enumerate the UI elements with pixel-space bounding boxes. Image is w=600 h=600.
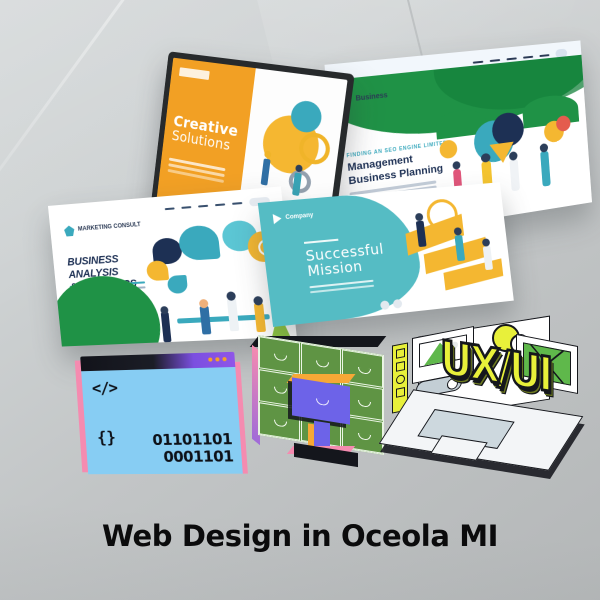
cabinet-drawer[interactable]	[259, 336, 300, 374]
code-tag-icon: </>	[91, 378, 117, 397]
flyer-left-logo-icon	[64, 225, 75, 236]
binary-code-text: 011011010001101	[152, 431, 234, 466]
imac-brand-logo-icon	[179, 67, 210, 80]
imac-headline: Creative Solutions	[171, 114, 239, 155]
code-browser-window: </> {} 011011010001101	[80, 352, 243, 474]
flyer-teal-logo-text: Company	[285, 213, 314, 222]
flyer-left-logo-text: MARKETING CONSULT	[78, 222, 141, 233]
browser-traffic-lights[interactable]	[208, 357, 227, 362]
filing-cabinet	[252, 336, 392, 476]
flyer-left-nav	[164, 197, 270, 213]
imac-subtext-lines	[169, 158, 226, 172]
browser-viewport: </> {} 011011010001101	[81, 367, 243, 474]
flyer-teal-illustration	[395, 190, 513, 306]
imac-figure-1	[261, 158, 271, 185]
flyer-teal-logo-icon	[273, 213, 282, 224]
curly-brace-icon: {}	[97, 428, 117, 447]
flyer-teal-dots	[380, 299, 403, 310]
uxui-laptop: UX/UI	[388, 326, 584, 486]
poster-canvas: Business Finding an SEO Engine Limited M…	[0, 0, 600, 600]
flyer-left-logo: MARKETING CONSULT	[64, 220, 142, 237]
page-title: Web Design in Oceola MI	[0, 519, 600, 553]
